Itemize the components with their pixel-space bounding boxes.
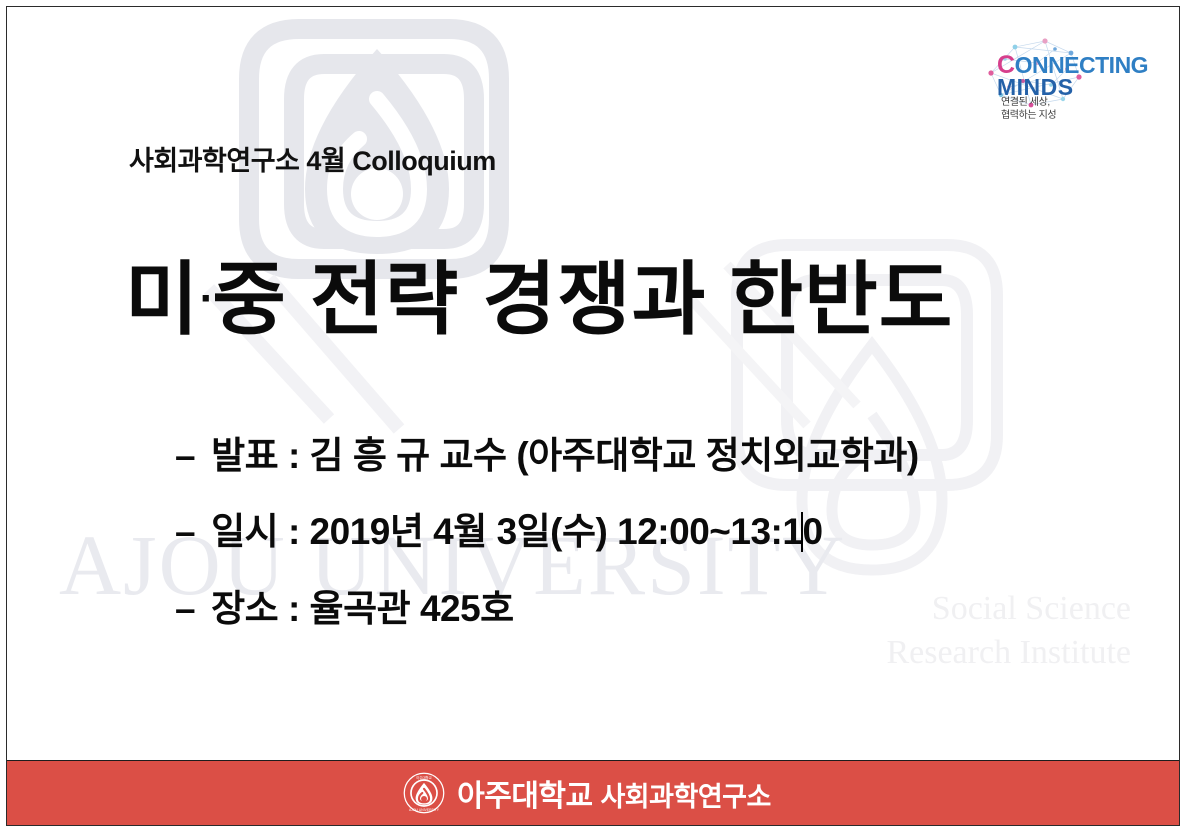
connecting-minds-wordmark: CONNECTINGMINDS [997, 54, 1148, 99]
connecting-minds-tagline: 연결된 세상, 협력하는 지성 [1001, 97, 1056, 122]
tagline-line1: 연결된 세상, [1001, 97, 1056, 110]
ajou-university-emblem-icon: 아주대학교 AJOU UNIVERSITY [403, 772, 445, 814]
slide-headline: 미·중 전략 경쟁과 한반도 [125, 235, 1075, 351]
footer-unit: 사회과학연구소 [600, 782, 770, 812]
detail-row-speaker: –발표 : 김 흥 규 교수 (아주대학교 정치외교학과) [175, 437, 1155, 474]
ajou-flame-watermark-icon [149, 7, 619, 459]
headline-part-2: 중 전략 경쟁과 한반도 [212, 255, 953, 344]
tagline-line2: 협력하는 지성 [1001, 110, 1056, 123]
detail-row-location: –장소 : 율곡관 425호 [175, 590, 1155, 627]
detail-datetime-text-before-caret: 일시 : 2019년 4월 3일(수) 12:00~13:1 [211, 511, 802, 552]
footer-bar: 아주대학교 AJOU UNIVERSITY 아주대학교 사회과학연구소 [7, 760, 1179, 825]
headline-middle-dot: · [200, 274, 213, 323]
bullet-dash-datetime: – [175, 511, 195, 552]
footer-org: 아주대학교 [457, 780, 593, 813]
bullet-dash-speaker: – [175, 435, 195, 476]
event-details-list: –발표 : 김 흥 규 교수 (아주대학교 정치외교학과) –일시 : 2019… [175, 437, 1155, 665]
event-series-kicker: 사회과학연구소 4월 Colloquium [129, 139, 496, 178]
footer-content: 아주대학교 AJOU UNIVERSITY 아주대학교 사회과학연구소 [403, 771, 771, 815]
headline-part-1: 미 [125, 255, 200, 344]
logo-word-minds: MINDS [997, 77, 1148, 98]
detail-row-datetime: –일시 : 2019년 4월 3일(수) 12:00~13:10 [175, 512, 1155, 552]
detail-location-text: 장소 : 율곡관 425호 [211, 588, 514, 629]
svg-text:AJOU UNIVERSITY: AJOU UNIVERSITY [409, 808, 440, 812]
detail-datetime-text-after-caret: 0 [802, 511, 822, 552]
connecting-minds-logo: CONNECTINGMINDS 연결된 세상, 협력하는 지성 [975, 29, 1155, 135]
svg-text:아주대학교: 아주대학교 [416, 775, 431, 780]
slide-canvas: AJOU UNIVERSITY Social Science Research … [6, 6, 1180, 826]
footer-organization-name: 아주대학교 사회과학연구소 [457, 771, 771, 815]
detail-speaker-text: 발표 : 김 흥 규 교수 (아주대학교 정치외교학과) [211, 435, 919, 476]
bullet-dash-location: – [175, 588, 195, 629]
